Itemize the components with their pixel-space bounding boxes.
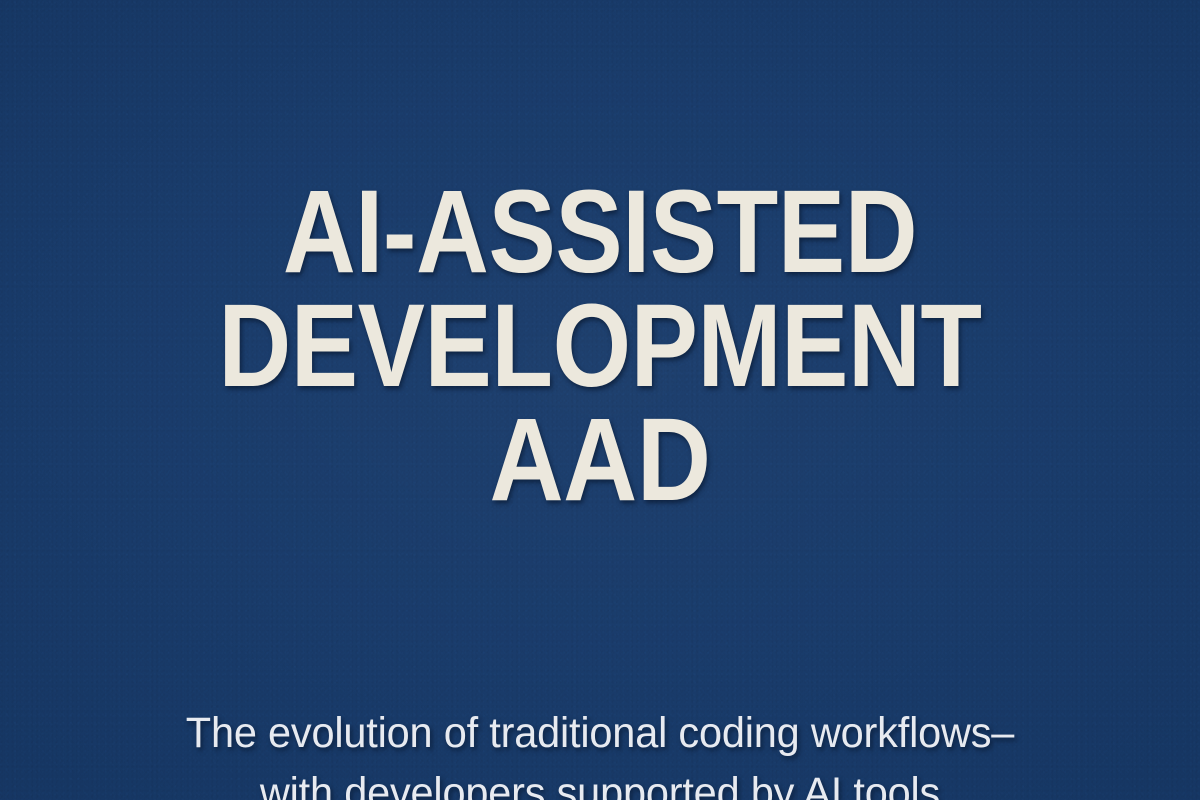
page-subtitle-line-2: with developers supported by AI tools (166, 763, 1035, 800)
page-title-line-1: AI-ASSISTED (87, 175, 1113, 289)
page-subtitle-line-1: The evolution of traditional coding work… (166, 703, 1035, 763)
slide-content: AI-ASSISTED DEVELOPMENT AAD The evolutio… (0, 0, 1200, 800)
page-title-line-2: DEVELOPMENT (87, 289, 1113, 403)
page-title-acronym: AAD (78, 403, 1122, 517)
page-title: AI-ASSISTED DEVELOPMENT AAD (0, 175, 1200, 517)
title-slide: AI-ASSISTED DEVELOPMENT AAD The evolutio… (0, 0, 1200, 800)
page-subtitle: The evolution of traditional coding work… (150, 703, 1050, 800)
